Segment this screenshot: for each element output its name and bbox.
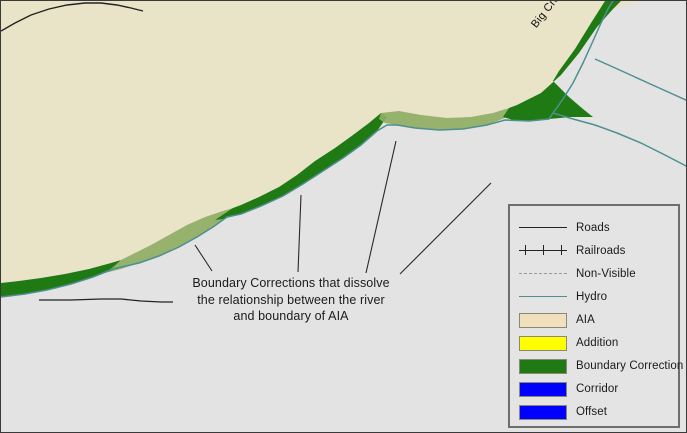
legend-item-corridor[interactable]: Corridor [510,377,678,400]
map-legend[interactable]: Roads Railroads Non-Visible Hydro [508,204,680,428]
boundary-corrections-callout: Boundary Corrections that dissolve the r… [161,275,421,325]
legend-item-non-visible[interactable]: Non-Visible [510,262,678,285]
railroads-line-icon [519,242,567,260]
legend-item-addition[interactable]: Addition [510,331,678,354]
legend-label-aia: AIA [576,314,595,326]
addition-swatch-icon [519,334,567,352]
corridor-swatch-icon [519,380,567,398]
legend-label-non-visible: Non-Visible [576,268,636,280]
legend-item-offset[interactable]: Offset [510,400,678,423]
legend-label-corridor: Corridor [576,383,618,395]
legend-label-addition: Addition [576,337,618,349]
map-screenshot: Boundary Corrections that dissolve the r… [0,0,687,433]
callout-line-1: Boundary Corrections that dissolve [161,275,421,292]
hydro-line-icon [519,288,567,306]
callout-line-2: the relationship between the river [161,292,421,309]
legend-label-offset: Offset [576,406,607,418]
roads-line-icon [519,219,567,237]
non-visible-dashed-line-icon [519,265,567,283]
legend-label-boundary-correction: Boundary Correction [576,360,683,372]
offset-swatch-icon [519,403,567,421]
legend-item-railroads[interactable]: Railroads [510,239,678,262]
aia-swatch-icon [519,311,567,329]
boundary-correction-swatch-icon [519,357,567,375]
legend-item-boundary-correction[interactable]: Boundary Correction [510,354,678,377]
legend-item-roads[interactable]: Roads [510,216,678,239]
legend-label-railroads: Railroads [576,245,625,257]
legend-label-hydro: Hydro [576,291,607,303]
legend-label-roads: Roads [576,222,610,234]
legend-item-aia[interactable]: AIA [510,308,678,331]
legend-item-hydro[interactable]: Hydro [510,285,678,308]
callout-line-3: and boundary of AIA [161,308,421,325]
